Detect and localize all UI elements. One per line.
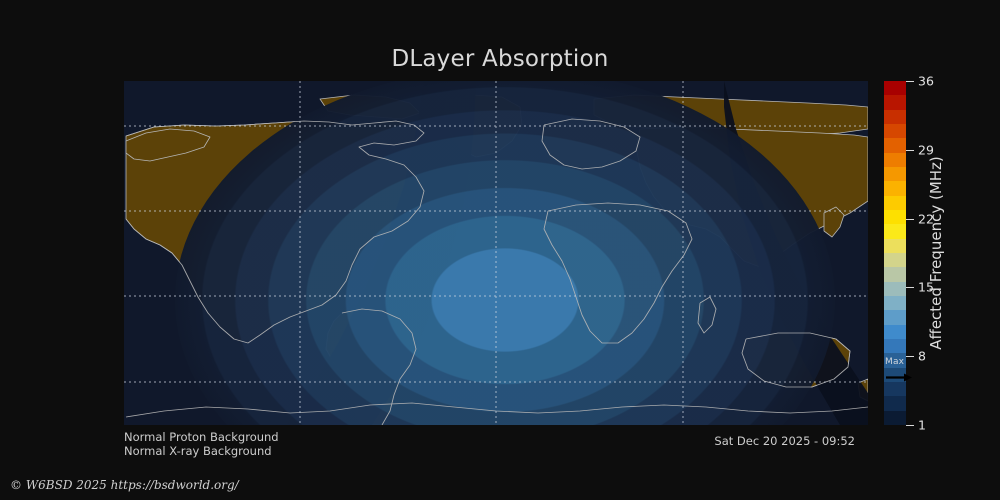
- colorbar-tick-mark: [906, 219, 914, 220]
- colorbar-band: [884, 310, 906, 324]
- colorbar-band: [884, 210, 906, 224]
- colorbar-band: [884, 282, 906, 296]
- colorbar-band: [884, 196, 906, 210]
- colorbar-band: [884, 153, 906, 167]
- colorbar-band: [884, 296, 906, 310]
- colorbar-tick-mark: [906, 81, 914, 82]
- xray-background-note: Normal X-ray Background: [124, 444, 272, 458]
- colorbar-tick-mark: [906, 150, 914, 151]
- colorbar-band: [884, 396, 906, 410]
- colorbar-title: Affected Frequency (MHz): [925, 81, 947, 425]
- colorbar-band: [884, 124, 906, 138]
- colorbar-tick-mark: [906, 425, 914, 426]
- colorbar-tick-mark: [906, 287, 914, 288]
- colorbar-band: [884, 181, 906, 195]
- colorbar-band: [884, 167, 906, 181]
- colorbar-band: [884, 325, 906, 339]
- world-map-panel[interactable]: [124, 81, 868, 425]
- copyright-notice: © W6BSD 2025 https://bsdworld.org/: [10, 478, 239, 492]
- colorbar-band: [884, 239, 906, 253]
- max-arrow-icon: [886, 373, 912, 382]
- max-marker-label: Max: [885, 357, 904, 367]
- colorbar-band: [884, 138, 906, 152]
- dlayer-absorption-app: DLayer Absorption: [0, 0, 1000, 500]
- colorbar-band: [884, 95, 906, 109]
- colorbar-max-marker: Max: [884, 358, 914, 384]
- timestamp: Sat Dec 20 2025 - 09:52: [714, 434, 855, 448]
- colorbar-band: [884, 411, 906, 425]
- colorbar-band: [884, 224, 906, 238]
- colorbar-band: [884, 339, 906, 353]
- page-title: DLayer Absorption: [0, 46, 1000, 72]
- colorbar-ticks: 1815222936: [906, 81, 996, 425]
- colorbar-band: [884, 253, 906, 267]
- colorbar-band: [884, 267, 906, 281]
- colorbar-band: [884, 110, 906, 124]
- proton-background-note: Normal Proton Background: [124, 430, 279, 444]
- map-canvas: [124, 81, 868, 425]
- colorbar-band: [884, 382, 906, 396]
- colorbar-band: [884, 81, 906, 95]
